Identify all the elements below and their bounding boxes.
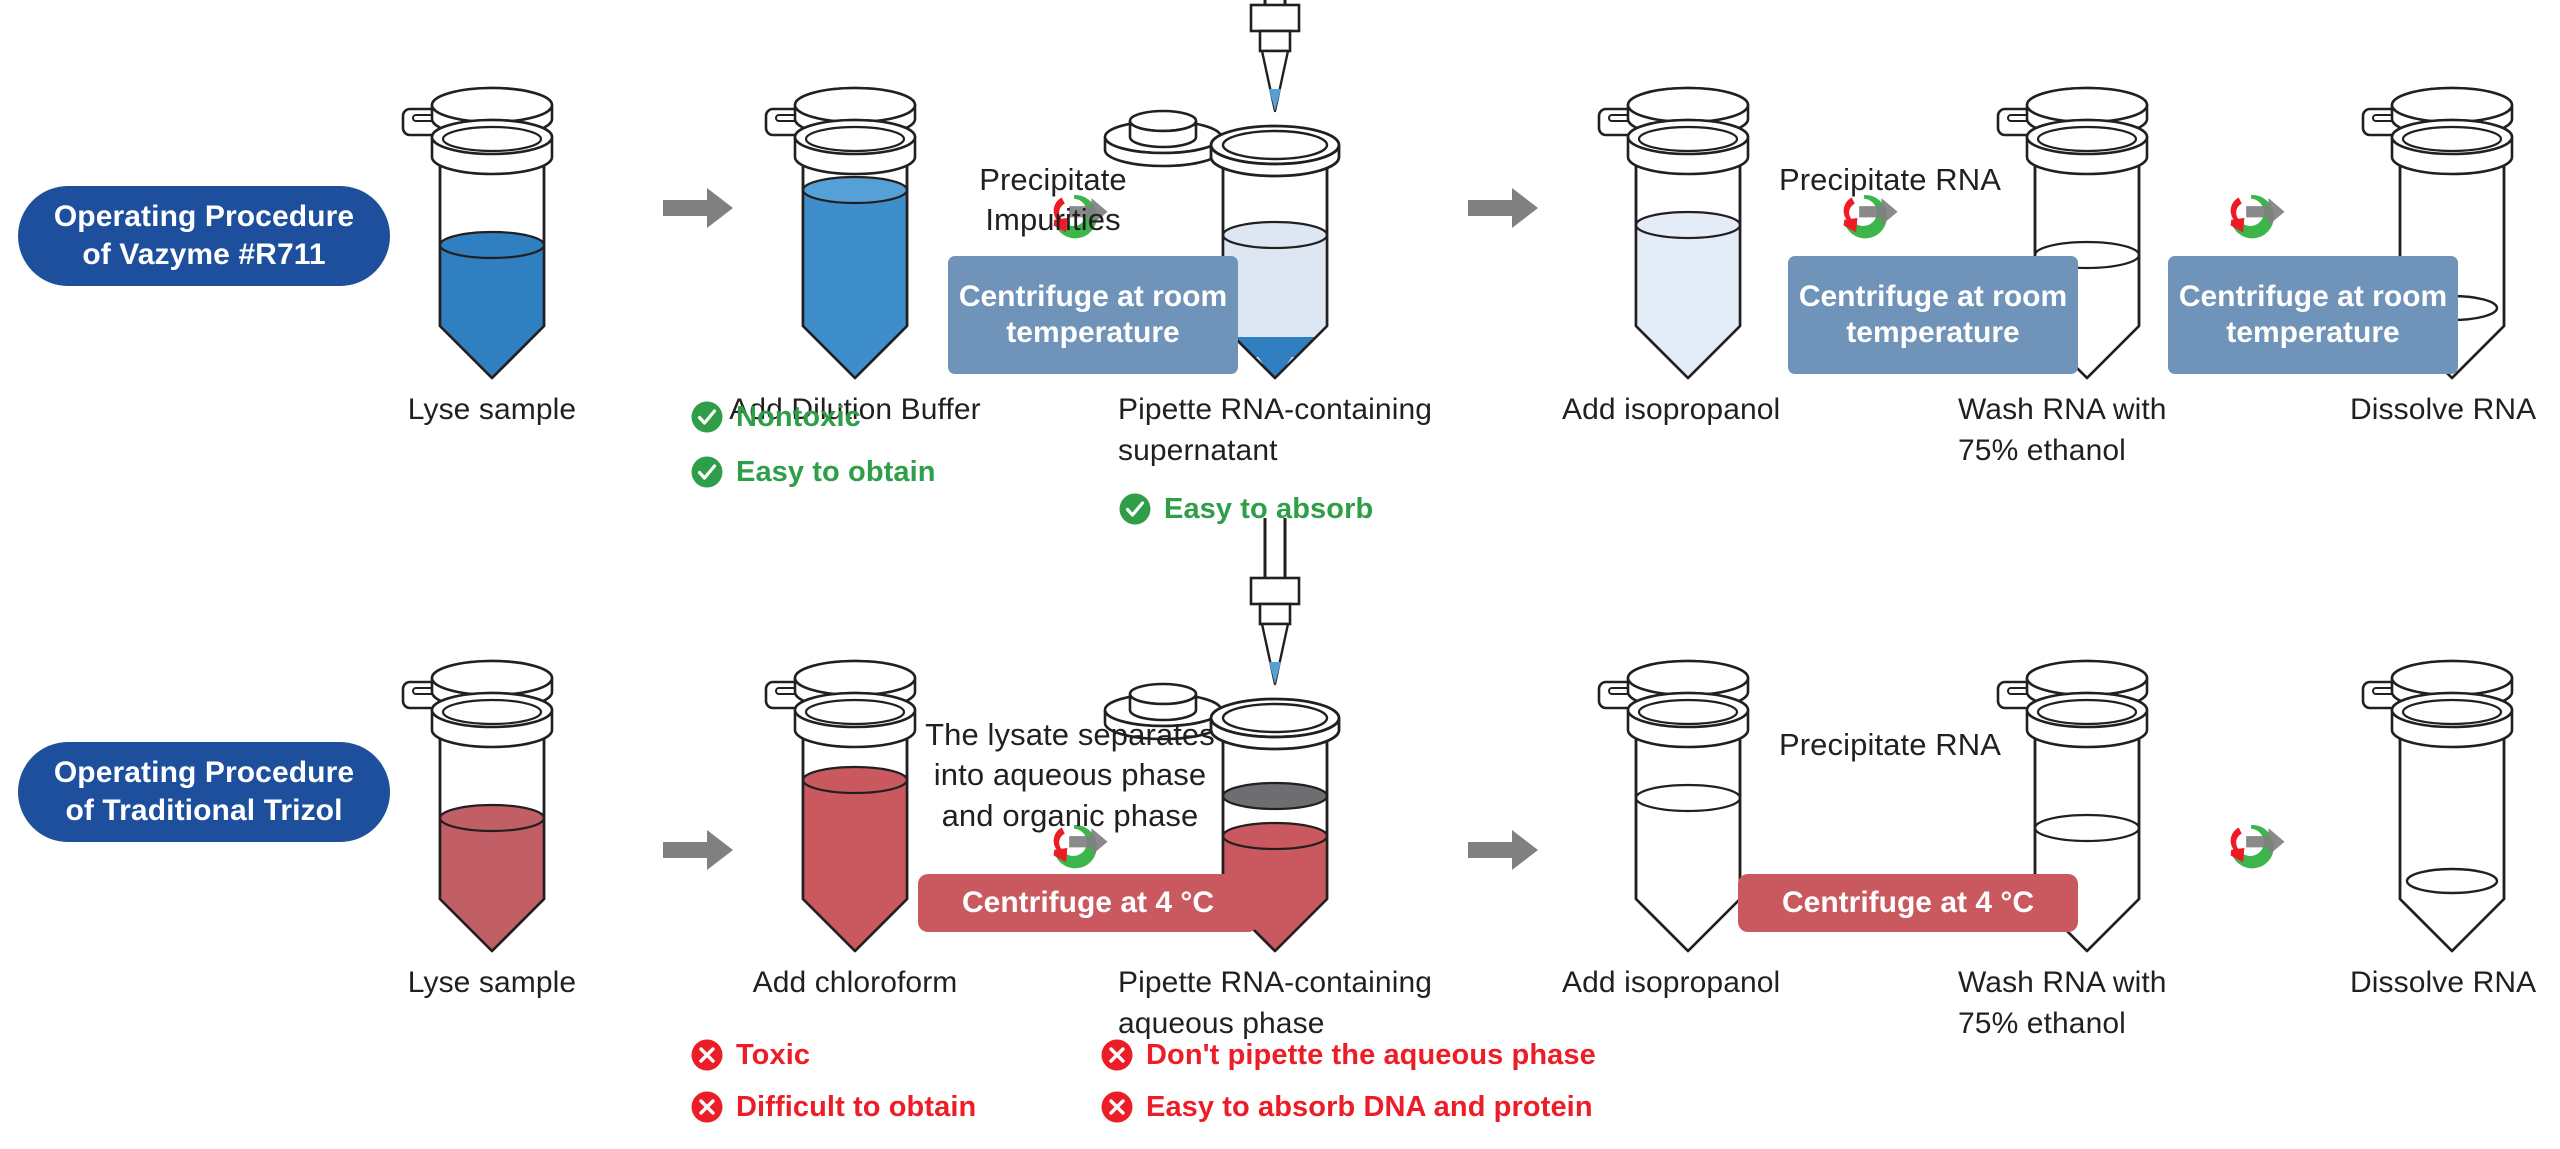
transition-arrow-2 xyxy=(1468,188,1538,228)
caption-pipette-aqueous-phase: Pipette RNA-containing aqueous phase xyxy=(1118,963,1478,1044)
tube-dilution-buffer xyxy=(766,88,915,405)
bullet-label: Don't pipette the aqueous phase xyxy=(1146,1039,1596,1072)
transition-arrow-4 xyxy=(1468,830,1538,870)
caption-lyse-sample-vazyme: Lyse sample xyxy=(392,390,592,431)
tube-lyse-sample-vazyme xyxy=(403,88,552,405)
centrifuge-spin-icon-3 xyxy=(2231,195,2285,238)
caption-lyse-sample-trizol: Lyse sample xyxy=(392,963,592,1004)
pipette-icon xyxy=(1251,0,1299,111)
headline-precipitate-impurities: Precipitate Impurities xyxy=(908,160,1198,241)
centrifuge-spin-icon-5 xyxy=(2231,825,2285,868)
badge-centrifuge-4c-2: Centrifuge at 4 °C xyxy=(1738,874,2078,932)
check-circle-icon xyxy=(690,400,724,434)
badge-centrifuge-4c-1: Centrifuge at 4 °C xyxy=(918,874,1258,932)
bullet-toxic: Don't pipette the aqueous phase xyxy=(1100,1038,1596,1072)
bullet-label: Difficult to obtain xyxy=(736,1091,976,1124)
transition-arrow-3 xyxy=(663,830,733,870)
bullet-toxic-left: Toxic xyxy=(690,1038,810,1072)
x-circle-icon xyxy=(690,1038,724,1072)
tube-chloroform-trizol xyxy=(766,661,915,980)
transition-arrow-1 xyxy=(663,188,733,228)
bullet-easy-to-absorb: Easy to absorb xyxy=(1118,492,1373,526)
caption-wash-ethanol-trizol: Wash RNA with 75% ethanol xyxy=(1958,963,2218,1044)
caption-chloroform: Add chloroform xyxy=(730,963,980,1004)
row-label-vazyme: Operating Procedure of Vazyme #R711 xyxy=(18,186,390,286)
bullet-easy-to-obtain: Easy to obtain xyxy=(690,455,936,489)
caption-wash-ethanol-vazyme: Wash RNA with 75% ethanol xyxy=(1958,390,2218,471)
x-circle-icon xyxy=(690,1090,724,1124)
check-circle-icon xyxy=(1118,492,1152,526)
caption-isopropanol-trizol: Add isopropanol xyxy=(1562,963,1862,1004)
badge-centrifuge-rt-1: Centrifuge at room temperature xyxy=(948,256,1238,374)
tube-lyse-sample-trizol xyxy=(403,661,552,978)
headline-precipitate-rna-trizol: Precipitate RNA xyxy=(1760,725,2020,765)
x-circle-icon xyxy=(1100,1038,1134,1072)
row-label-trizol: Operating Procedure of Traditional Trizo… xyxy=(18,742,390,842)
check-circle-icon xyxy=(690,455,724,489)
headline-lysate-separates: The lysate separates into aqueous phase … xyxy=(920,715,1220,836)
caption-isopropanol-vazyme: Add isopropanol xyxy=(1562,390,1862,431)
bullet-label: Toxic xyxy=(736,1039,810,1072)
bullet-label: Easy to absorb xyxy=(1164,493,1373,526)
bullet-easy-absorb-dna: Easy to absorb DNA and protein xyxy=(1100,1090,1593,1124)
headline-precipitate-rna-vazyme: Precipitate RNA xyxy=(1760,160,2020,200)
tube-isopropanol-vazyme xyxy=(1599,88,1748,400)
caption-dissolve-rna-trizol: Dissolve RNA xyxy=(2350,963,2560,1004)
bullet-label: Easy to obtain xyxy=(736,456,936,489)
tube-dissolve-rna-trizol xyxy=(2363,661,2512,951)
bullet-label: Easy to absorb DNA and protein xyxy=(1146,1091,1593,1124)
bullet-difficult-to-obtain: Difficult to obtain xyxy=(690,1090,976,1124)
badge-centrifuge-rt-3: Centrifuge at room temperature xyxy=(2168,256,2458,374)
bullet-nontoxic: Nontoxic xyxy=(690,400,861,434)
x-circle-icon xyxy=(1100,1090,1134,1124)
diagram-canvas: Operating Procedure of Vazyme #R711 Prec… xyxy=(0,0,2560,1149)
centrifuge-spin-icon-2 xyxy=(1844,195,1898,238)
badge-centrifuge-rt-2: Centrifuge at room temperature xyxy=(1788,256,2078,374)
bullet-label: Nontoxic xyxy=(736,401,861,434)
caption-pipette-supernatant-vazyme: Pipette RNA-containing supernatant xyxy=(1118,390,1478,471)
caption-dissolve-rna-vazyme: Dissolve RNA xyxy=(2350,390,2560,431)
interphase-band xyxy=(1223,783,1327,809)
pipette-icon xyxy=(1251,518,1299,684)
tube-isopropanol-trizol xyxy=(1599,661,1748,951)
